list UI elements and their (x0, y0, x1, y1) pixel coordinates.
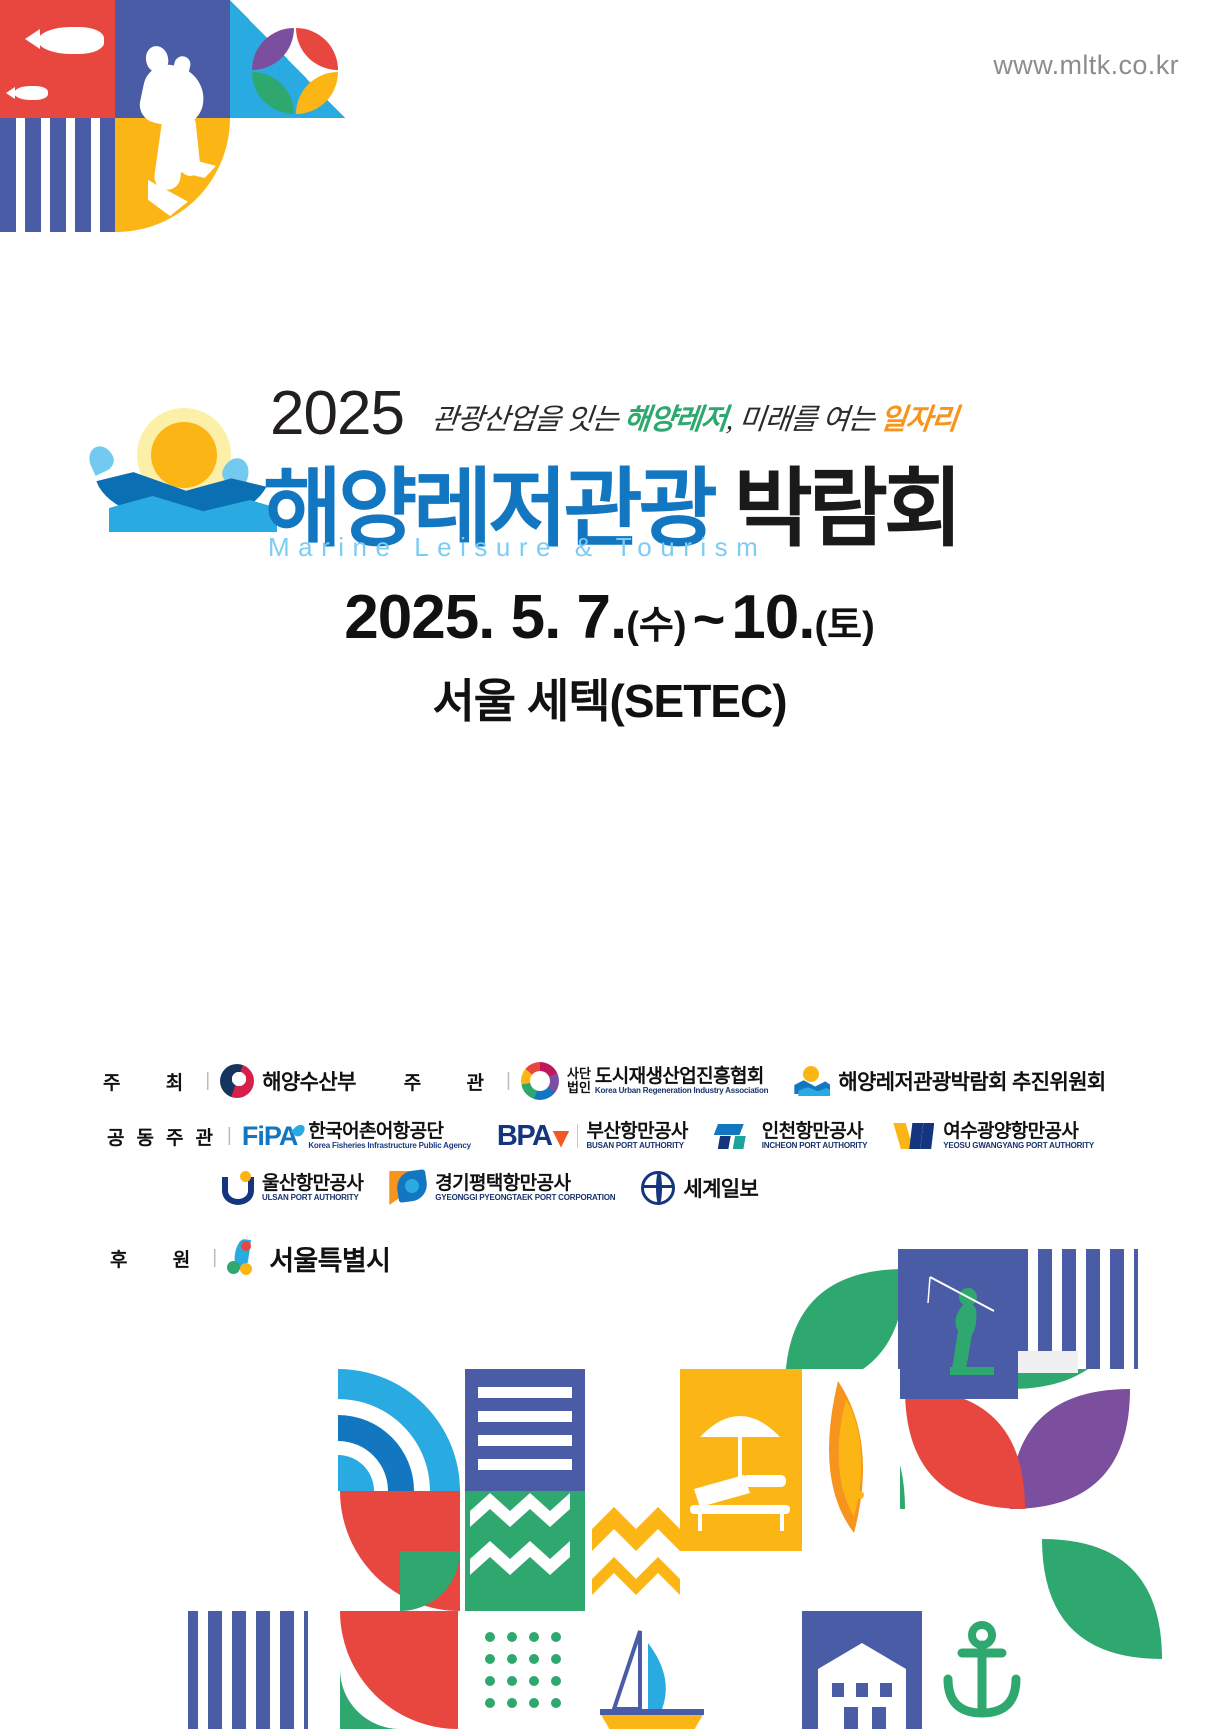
upa-mark-icon (222, 1171, 254, 1205)
logo-row: 2025 관광산업을 잇는 해양레저, 미래를 여는 일자리 해양레저관광 박람… (0, 360, 1219, 540)
kuria-prefix-line2: 법인 (567, 1081, 591, 1095)
gppc-mark-icon (389, 1171, 427, 1205)
org-kuria[interactable]: 사단 법인 도시재생산업진흥협회 Korea Urban Regeneratio… (521, 1062, 768, 1100)
host-divider: | (205, 1070, 210, 1092)
tagline-part-1: 관광산업을 잇는 (430, 404, 626, 436)
tagline-part-3: , 미래를 여는 (725, 404, 882, 436)
credit-row-coorganizer-2: 울산항만공사 ULSAN PORT AUTHORITY 경기평택항만공사 GYE… (0, 1165, 1219, 1211)
mltk-emblem-icon (794, 1066, 830, 1096)
org-bpa[interactable]: BPA 부산항만공사 BUSAN PORT AUTHORITY (497, 1120, 688, 1153)
hero-section: 2025 관광산업을 잇는 해양레저, 미래를 여는 일자리 해양레저관광 박람… (0, 360, 1219, 540)
sailboat-tile (588, 1611, 708, 1729)
fipa-wordmark-text: FiPA (242, 1121, 298, 1151)
org-ipa-label: 인천항만공사 (762, 1122, 868, 1142)
segye-globe-icon (641, 1171, 675, 1205)
org-gppc-sub: GYEONGGI PYEONGTAEK PORT CORPORATION (435, 1194, 615, 1202)
org-ygpa[interactable]: 여수광양항만공사 YEOSU GWANGYANG PORT AUTHORITY (893, 1122, 1094, 1150)
tagline-part-2: 해양레저 (622, 404, 728, 436)
ygpa-mark-icon (893, 1123, 935, 1149)
english-subtitle: Marine Leisure & Tourism (268, 532, 766, 563)
scuba-diver-icon (132, 40, 227, 220)
mof-taegeuk-icon (220, 1064, 254, 1098)
top-decorative-mosaic (0, 0, 345, 232)
org-mltk-committee[interactable]: 해양레저관광박람회 추진위원회 (794, 1066, 1105, 1096)
credit-row-host-organizer: 주 최 | 해양수산부 주 관 | 사단 법인 도시재생산업진흥협회 Korea… (0, 1055, 1219, 1107)
org-bpa-sub: BUSAN PORT AUTHORITY (586, 1142, 687, 1150)
fipa-wordmark-icon: FiPA (242, 1121, 305, 1152)
org-fipa-label: 한국어촌어항공단 (308, 1122, 471, 1142)
date-start-day: (수) (626, 605, 686, 647)
bottom-decorative-mosaic (0, 1239, 1219, 1729)
arc-tile (338, 1369, 460, 1491)
org-segye-label: 세계일보 (683, 1173, 758, 1203)
quarter-circles-left (190, 1611, 458, 1729)
fish-icon (38, 27, 104, 54)
bpa-wordmark-text: BPA (497, 1120, 552, 1152)
date-start: 2025. 5. 7. (344, 583, 626, 652)
website-url[interactable]: www.mltk.co.kr (993, 50, 1179, 81)
surfboard-tile (802, 1369, 900, 1551)
fish-tile (0, 0, 115, 118)
host-label: 주 최 (103, 1068, 203, 1095)
tagline-part-4: 일자리 (878, 404, 958, 436)
tropical-fish-icon (436, 20, 482, 54)
bottom-mosaic-svg (0, 1239, 1219, 1729)
org-ygpa-label: 여수광양항만공사 (943, 1122, 1094, 1142)
org-mof[interactable]: 해양수산부 (220, 1064, 356, 1098)
bpa-wordmark-icon: BPA (497, 1120, 570, 1153)
lighthouse-tile (802, 1611, 922, 1729)
small-fish-icon (14, 86, 48, 100)
org-ygpa-sub: YEOSU GWANGYANG PORT AUTHORITY (943, 1142, 1094, 1150)
zigzag-tile (465, 1491, 585, 1611)
date-separator: ~ (687, 587, 732, 650)
coorganizer-divider: | (227, 1125, 232, 1147)
org-bpa-label: 부산항만공사 (586, 1122, 687, 1142)
stripe-tile-right (1018, 1249, 1138, 1373)
sun-wave-emblem-icon (95, 408, 280, 528)
org-upa[interactable]: 울산항만공사 ULSAN PORT AUTHORITY (222, 1171, 363, 1205)
handwritten-tagline: 관광산업을 잇는 해양레저, 미래를 여는 일자리 (430, 396, 960, 438)
org-segye[interactable]: 세계일보 (641, 1171, 758, 1205)
organizer-divider: | (506, 1070, 511, 1092)
credit-row-coorganizer-1: 공동주관 | FiPA 한국어촌어항공단 Korea Fisheries Inf… (0, 1113, 1219, 1159)
org-gppc[interactable]: 경기평택항만공사 GYEONGGI PYEONGTAEK PORT CORPOR… (389, 1171, 615, 1205)
beach-chair-tile (680, 1369, 802, 1551)
kuria-ribbon-icon (521, 1062, 559, 1100)
event-venue: 서울 세텍(SETEC) (0, 665, 1219, 731)
organizer-label: 주 관 (404, 1068, 504, 1095)
org-ipa[interactable]: 인천항만공사 INCHEON PORT AUTHORITY (714, 1122, 868, 1150)
petal-motif (252, 28, 344, 116)
org-kuria-sub: Korea Urban Regeneration Industry Associ… (595, 1087, 768, 1095)
org-fipa[interactable]: FiPA 한국어촌어항공단 Korea Fisheries Infrastruc… (242, 1121, 471, 1152)
event-date: 2025. 5. 7.(수)~10.(토) (0, 582, 1219, 653)
date-end-day: (토) (814, 605, 874, 647)
org-fipa-sub: Korea Fisheries Infrastructure Public Ag… (308, 1142, 471, 1150)
org-mltk-committee-label: 해양레저관광박람회 추진위원회 (838, 1066, 1105, 1096)
kuria-prefix-line1: 사단 (567, 1067, 591, 1081)
org-upa-sub: ULSAN PORT AUTHORITY (262, 1194, 363, 1202)
coorganizer-label: 공동주관 (107, 1123, 225, 1150)
org-upa-label: 울산항만공사 (262, 1174, 363, 1194)
ipa-mark-icon (714, 1122, 754, 1150)
bpa-separator (577, 1124, 578, 1148)
sun-tile (340, 1491, 460, 1611)
org-mof-label: 해양수산부 (262, 1066, 356, 1096)
stripe-tile (0, 118, 115, 232)
dots-tile (465, 1611, 585, 1729)
org-ipa-sub: INCHEON PORT AUTHORITY (762, 1142, 868, 1150)
ladder-tile (465, 1369, 585, 1491)
date-end: 10. (731, 583, 814, 652)
org-gppc-label: 경기평택항만공사 (435, 1174, 615, 1194)
title-black-part: 박람회 (734, 461, 959, 557)
fisherman-tile (898, 1249, 1018, 1399)
org-kuria-label: 도시재생산업진흥협회 (595, 1067, 768, 1087)
